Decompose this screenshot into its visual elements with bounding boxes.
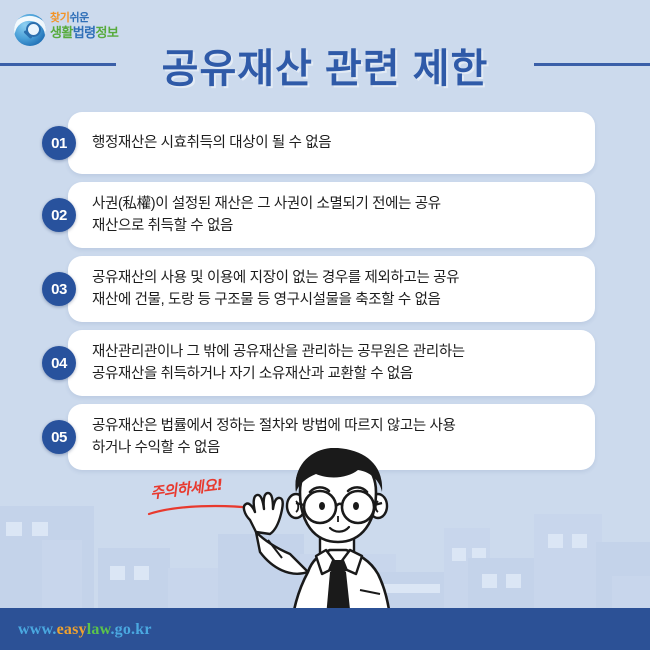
page-title: 공유재산 관련 제한 xyxy=(0,36,650,94)
restriction-card[interactable]: 사권(私權)이 설정된 재산은 그 사권이 소멸되기 전에는 공유 재산으로 취… xyxy=(68,182,595,248)
infographic-poster: 찾기쉬운 생활법령정보 공유재산 관련 제한 행정재산은 시효취득의 대상이 될… xyxy=(0,0,650,650)
restriction-list: 행정재산은 시효취득의 대상이 될 수 없음 01 사권(私權)이 설정된 재산… xyxy=(0,112,650,478)
logo-line1: 찾기쉬운 xyxy=(50,12,118,25)
restriction-number-badge: 01 xyxy=(42,126,76,160)
restriction-text: 사권(私權)이 설정된 재산은 그 사권이 소멸되기 전에는 공유 재산으로 취… xyxy=(68,193,459,238)
restriction-card[interactable]: 재산관리관이나 그 밖에 공유재산을 관리하는 공무원은 관리하는 공유재산을 … xyxy=(68,330,595,396)
url-part-www: www. xyxy=(18,621,57,638)
url-part-law: law xyxy=(87,621,111,638)
footer-band: www.easylaw.go.kr xyxy=(0,608,650,650)
building xyxy=(168,568,222,610)
restriction-text: 행정재산은 시효취득의 대상이 될 수 없음 xyxy=(68,132,349,154)
building xyxy=(534,514,602,610)
url-part-easy: easy xyxy=(57,621,87,638)
restriction-card[interactable]: 행정재산은 시효취득의 대상이 될 수 없음 xyxy=(68,112,595,174)
building xyxy=(42,540,82,610)
url-part-gokr: .go.kr xyxy=(110,621,151,638)
restriction-number-badge: 02 xyxy=(42,198,76,232)
building xyxy=(612,576,650,610)
site-url[interactable]: www.easylaw.go.kr xyxy=(18,621,152,639)
list-item: 공유재산의 사용 및 이용에 지장이 없는 경우를 제외하고는 공유 재산에 건… xyxy=(0,256,650,322)
list-item: 사권(私權)이 설정된 재산은 그 사권이 소멸되기 전에는 공유 재산으로 취… xyxy=(0,182,650,248)
list-item: 행정재산은 시효취득의 대상이 될 수 없음 01 xyxy=(0,112,650,174)
restriction-card[interactable]: 공유재산의 사용 및 이용에 지장이 없는 경우를 제외하고는 공유 재산에 건… xyxy=(68,256,595,322)
restriction-number-badge: 04 xyxy=(42,346,76,380)
restriction-text: 공유재산의 사용 및 이용에 지장이 없는 경우를 제외하고는 공유 재산에 건… xyxy=(68,267,477,312)
restriction-number-badge: 05 xyxy=(42,420,76,454)
building xyxy=(98,548,170,610)
restriction-number-badge: 03 xyxy=(42,272,76,306)
list-item: 재산관리관이나 그 밖에 공유재산을 관리하는 공무원은 관리하는 공유재산을 … xyxy=(0,330,650,396)
title-row: 공유재산 관련 제한 xyxy=(0,36,650,92)
building xyxy=(468,558,540,610)
restriction-text: 재산관리관이나 그 밖에 공유재산을 관리하는 공무원은 관리하는 공유재산을 … xyxy=(68,341,483,386)
